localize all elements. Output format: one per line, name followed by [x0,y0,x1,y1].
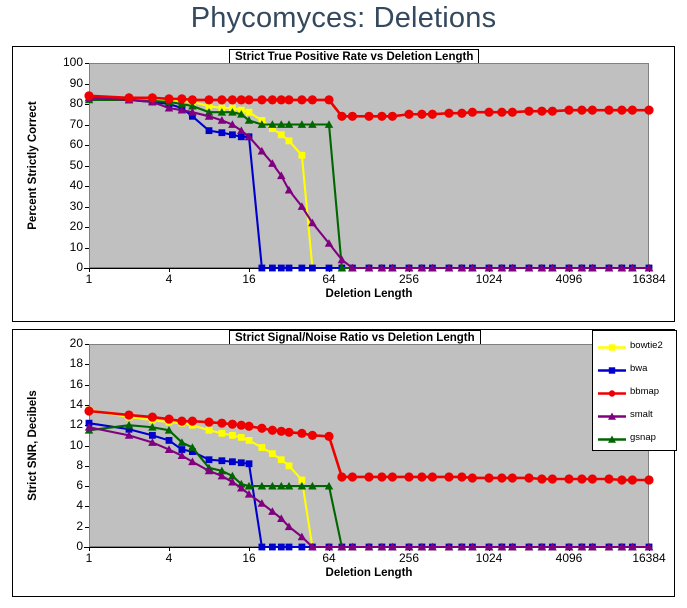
legend-label-bwa: bwa [627,363,647,374]
legend-item-smalt[interactable]: smalt [597,407,675,422]
chart-panel-signal-noise-ratio: Strict Signal/Noise Ratio vs Deletion Le… [12,329,675,597]
page-title: Phycomyces: Deletions [0,2,687,35]
legend-marker-smalt-icon [597,409,627,420]
legend-marker-bowtie2-icon [597,340,627,351]
series-gsnap [85,96,654,272]
legend-item-bwa[interactable]: bwa [597,361,675,376]
legend-marker-bwa-icon [597,363,627,374]
legend-label-bbmap: bbmap [627,386,659,397]
chart-panel-true-positive-rate: Strict True Positive Rate vs Deletion Le… [12,46,675,322]
legend-item-bbmap[interactable]: bbmap [597,384,675,399]
legend-label-smalt: smalt [627,409,653,420]
legend-item-bowtie2[interactable]: bowtie2 [597,338,675,353]
series-bwa [86,420,653,551]
legend-item-gsnap[interactable]: gsnap [597,430,675,445]
series-bbmap [84,406,653,484]
legend: bowtie2bwabbmapsmaltgsnap [592,330,677,451]
legend-marker-bbmap-icon [597,386,627,397]
legend-marker-gsnap-icon [597,432,627,443]
legend-label-bowtie2: bowtie2 [627,340,663,351]
series-bowtie2 [86,94,653,271]
series-layer [13,330,676,598]
series-layer [13,47,676,323]
series-bwa [86,94,653,271]
legend-label-gsnap: gsnap [627,432,656,443]
